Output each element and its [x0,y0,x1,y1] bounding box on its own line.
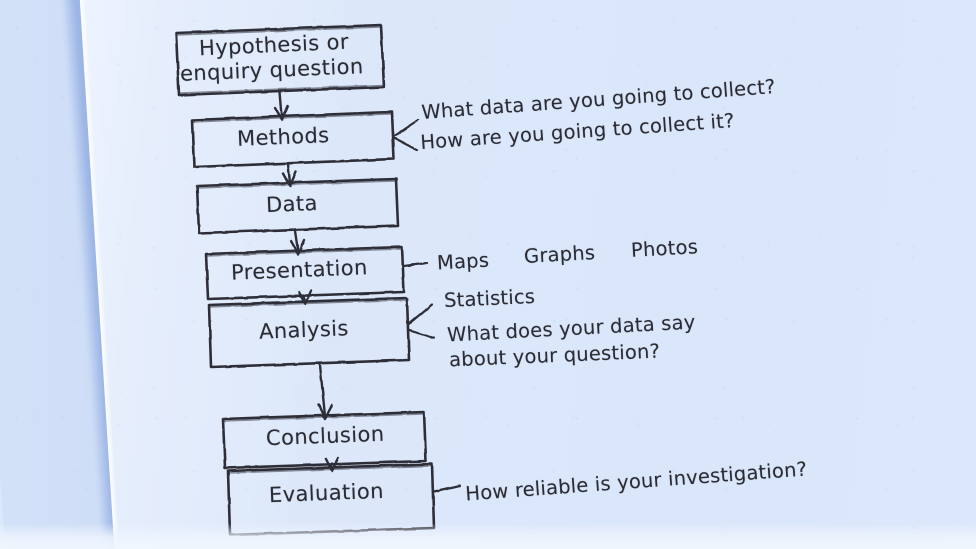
connector-analysis-fork [408,305,434,338]
node-label-analysis: Analysis [259,316,350,344]
connector-presentation-dash [404,263,427,266]
annotation-presentation-photos: Photos [630,235,698,262]
node-label-methods: Methods [237,123,330,151]
connector-evaluation-dash [434,486,460,492]
arrow-analysis-to-conclusion [319,365,332,419]
handwritten-flowchart-image: Hypothesis or enquiry question Methods D… [0,0,976,549]
page-bottom-edge [0,523,976,549]
annotation-presentation-graphs: Graphs [523,241,595,268]
ink-drawing-layer [0,0,976,549]
node-label-conclusion: Conclusion [266,422,385,451]
node-label-data: Data [266,191,319,217]
annotation-analysis-statistics: Statistics [444,285,536,312]
node-label-evaluation: Evaluation [269,479,385,507]
connector-methods-fork [394,120,418,150]
annotation-presentation-maps: Maps [436,249,489,275]
